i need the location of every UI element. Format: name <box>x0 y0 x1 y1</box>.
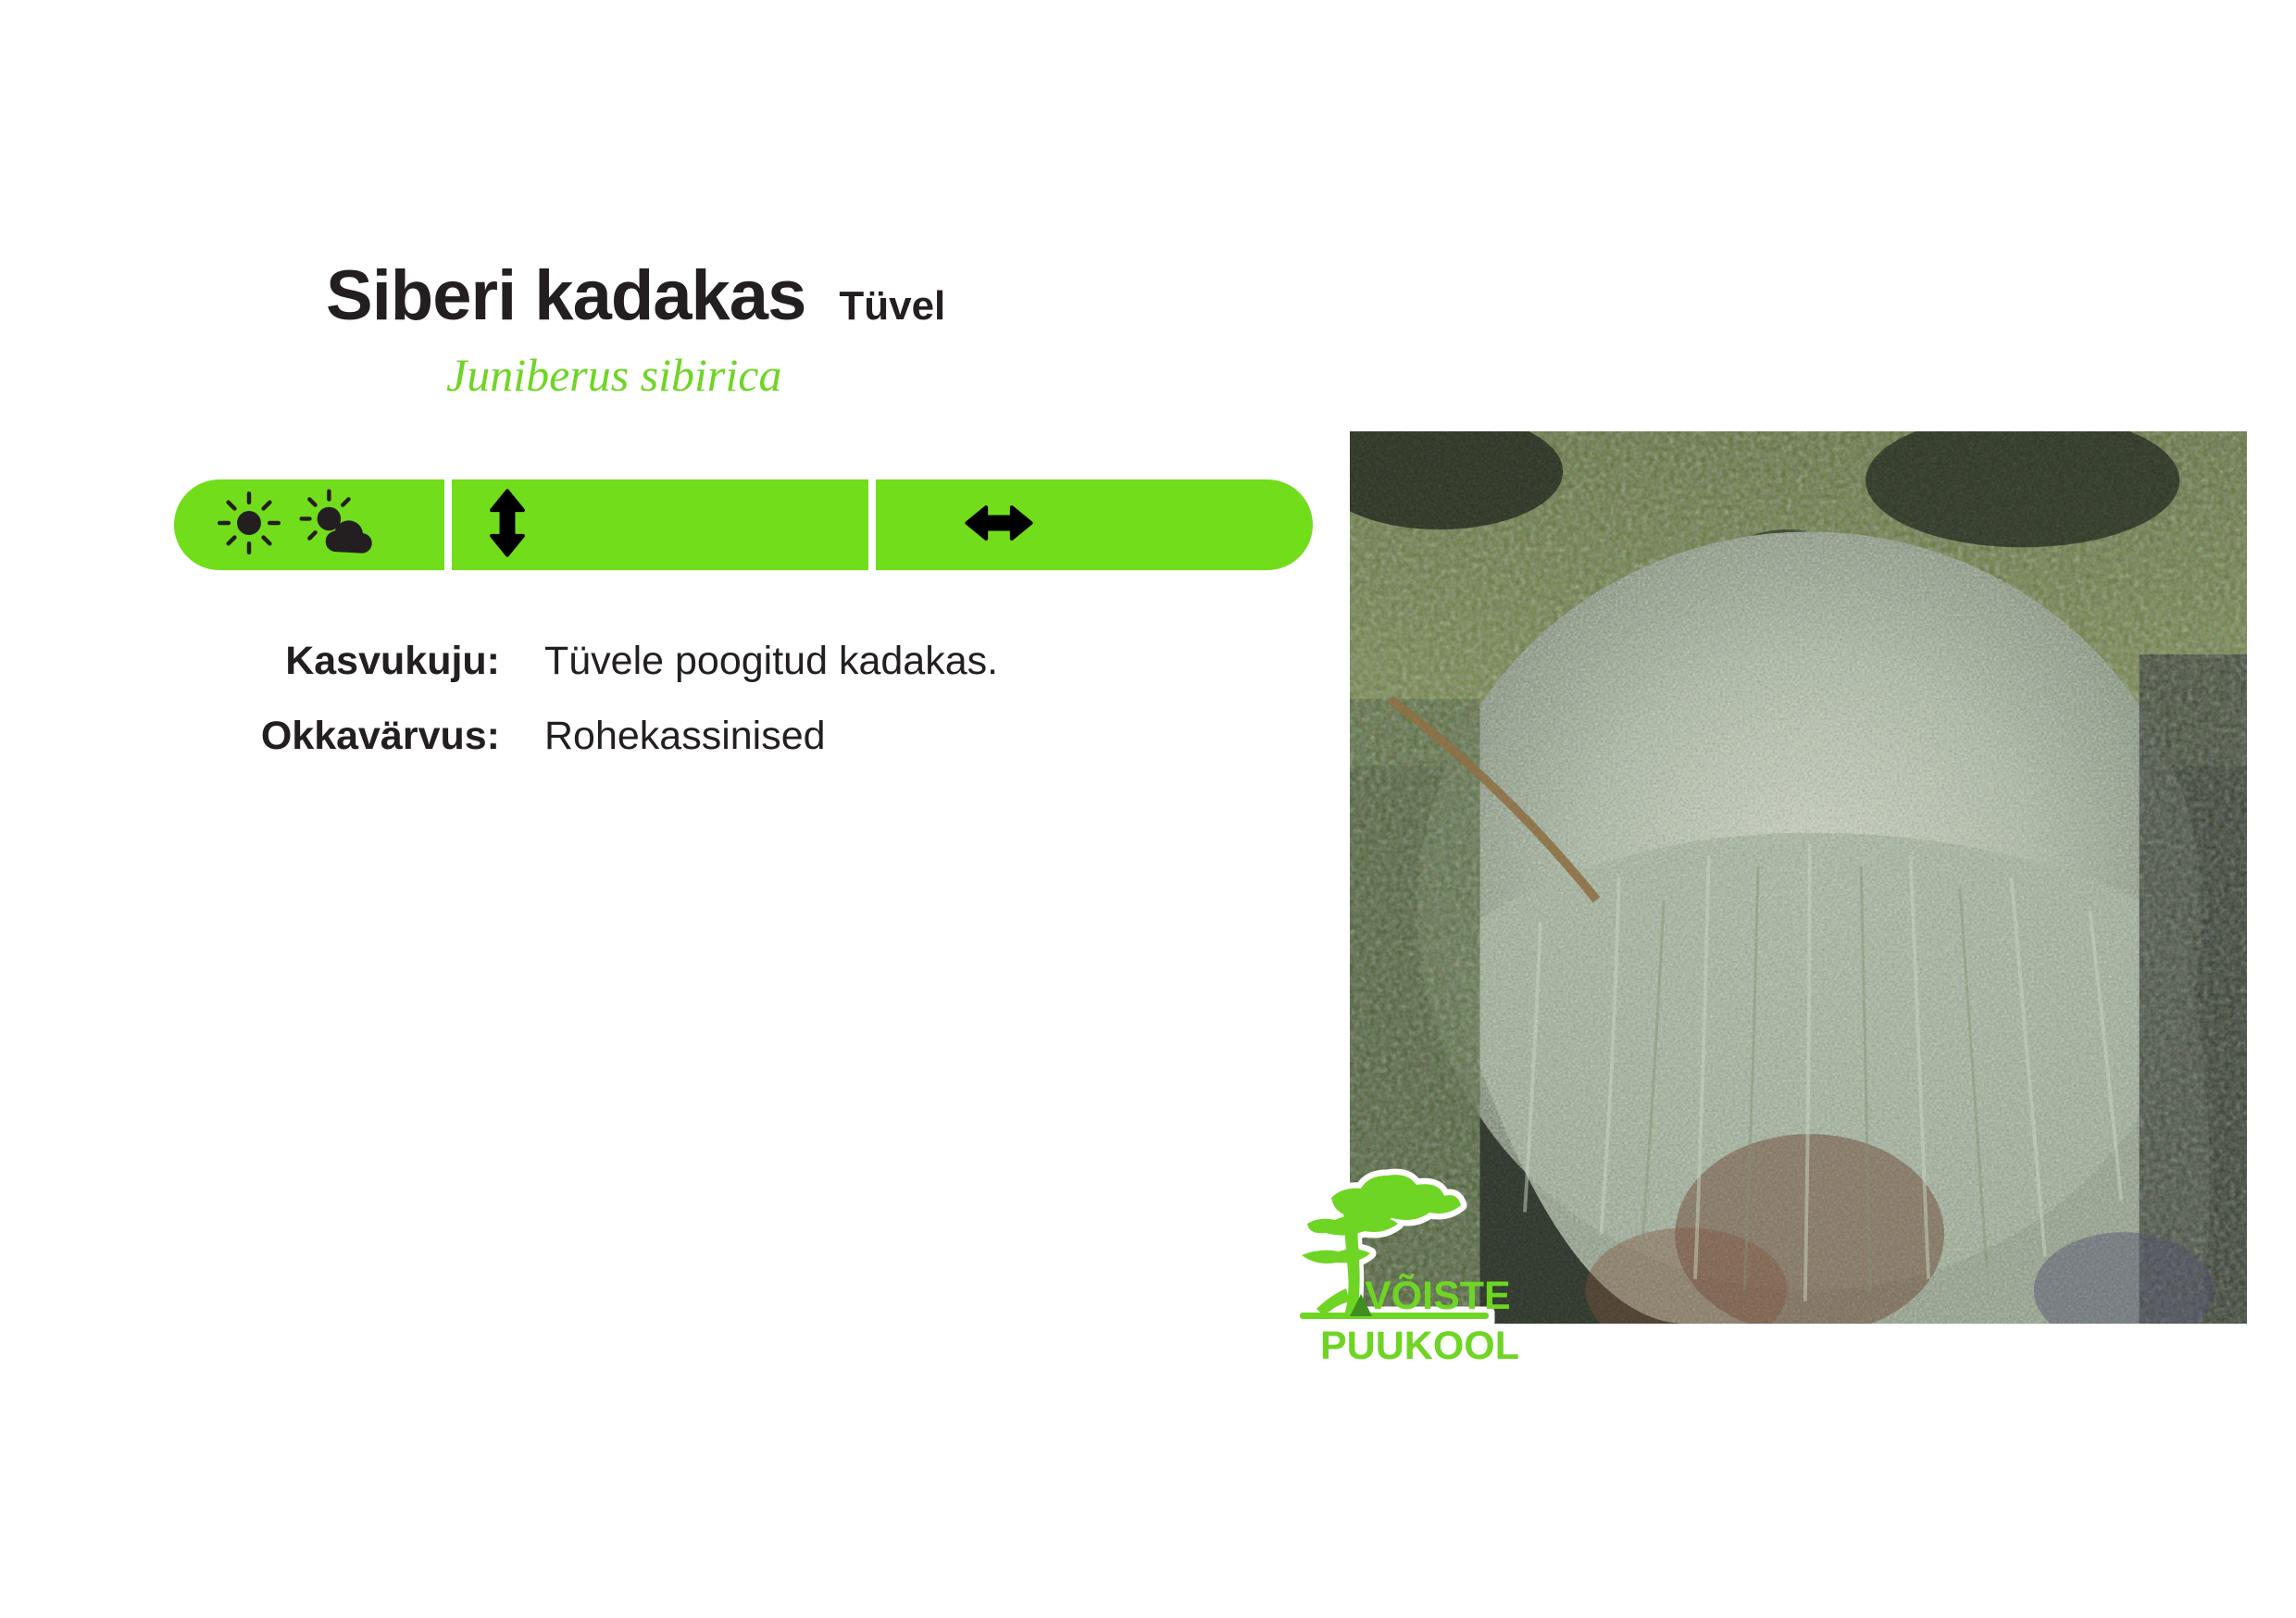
width-segment <box>876 479 1313 570</box>
title-block: Siberi kadakas Tüvel Juniberus sibirica <box>326 261 1344 398</box>
attribute-value: Tüvele poogitud kadakas. <box>544 639 998 684</box>
plant-form-tag: Tüvel <box>839 286 945 327</box>
attribute-row-kasvukuju: Kasvukuju: Tüvele poogitud kadakas. <box>174 639 1239 684</box>
attribute-list: Kasvukuju: Tüvele poogitud kadakas. Okka… <box>174 639 1239 789</box>
horizontal-double-arrow-icon <box>965 504 1033 546</box>
attribute-label: Okkavärvus: <box>174 714 500 759</box>
attribute-icon-bar <box>174 479 1313 570</box>
attribute-row-okkavarvus: Okkavärvus: Rohekassinised <box>174 714 1239 759</box>
voiste-puukool-logo: VÕISTE PUUKOOL <box>1276 1131 1544 1372</box>
attribute-value: Rohekassinised <box>544 714 826 759</box>
attribute-label: Kasvukuju: <box>174 639 500 684</box>
botanical-name: Juniberus sibirica <box>446 352 1344 398</box>
logo-line1: VÕISTE <box>1365 1273 1511 1318</box>
title-row: Siberi kadakas Tüvel <box>326 261 1344 331</box>
height-segment <box>452 479 868 570</box>
page-title: Siberi kadakas <box>326 261 805 331</box>
brand-logo: VÕISTE PUUKOOL <box>1276 1131 1544 1372</box>
sun-icon <box>215 489 283 562</box>
light-requirement-segment <box>174 479 444 570</box>
logo-line2: PUUKOOL <box>1320 1324 1519 1368</box>
sun-behind-cloud-icon <box>298 489 374 562</box>
vertical-double-arrow-icon <box>489 489 526 562</box>
